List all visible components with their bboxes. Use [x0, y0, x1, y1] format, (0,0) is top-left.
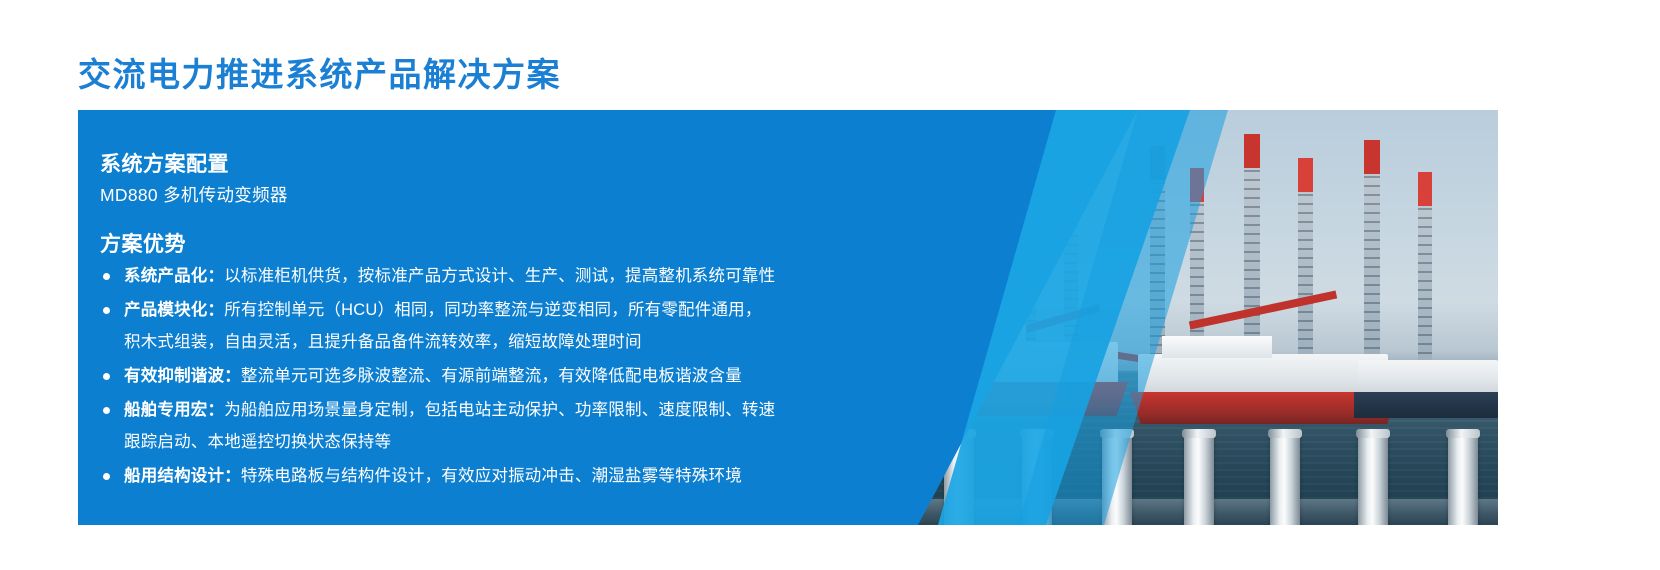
advantage-wrap-line: 跟踪启动、本地遥控切换状态保持等: [124, 426, 980, 458]
advantage-label: 系统产品化：: [124, 267, 224, 285]
advantage-label: 船用结构设计：: [124, 467, 241, 485]
solution-card: 系统方案配置 MD880 多机传动变频器 方案优势 系统产品化：以标准柜机供货，…: [78, 110, 1498, 525]
advantage-item: 系统产品化：以标准柜机供货，按标准产品方式设计、生产、测试，提高整机系统可靠性: [100, 260, 980, 292]
advantage-label: 产品模块化：: [124, 301, 224, 319]
advantage-label: 船舶专用宏：: [124, 401, 224, 419]
bullet-dot-icon: [103, 407, 110, 414]
section-subtitle: MD880 多机传动变频器: [100, 182, 288, 207]
crane-tower-cap: [1418, 172, 1432, 206]
advantage-item: 船舶专用宏：为船舶应用场景量身定制，包括电站主动保护、功率限制、速度限制、转速跟…: [100, 394, 980, 458]
pier-piling: [1270, 429, 1300, 525]
pier-piling: [1184, 429, 1214, 525]
vessel-deckhouse: [1162, 336, 1272, 358]
crane-tower-cap: [1298, 158, 1313, 192]
advantage-item: 船用结构设计：特殊电路板与结构件设计，有效应对振动冲击、潮湿盐雾等特殊环境: [100, 460, 980, 492]
vessel-superstructure: [1358, 360, 1498, 394]
section-title: 系统方案配置: [100, 148, 229, 178]
page-title: 交流电力推进系统产品解决方案: [78, 48, 561, 96]
advantage-first-line: 有效抑制谐波：整流单元可选多脉波整流、有源前端整流，有效降低配电板谐波含量: [124, 360, 980, 392]
advantage-wrap-line: 积木式组装，自由灵活，且提升备品备件流转效率，缩短故障处理时间: [124, 326, 980, 358]
advantages-list: 系统产品化：以标准柜机供货，按标准产品方式设计、生产、测试，提高整机系统可靠性产…: [100, 260, 980, 494]
crane-tower-cap: [1244, 134, 1260, 168]
advantages-title: 方案优势: [100, 228, 186, 258]
bullet-dot-icon: [103, 307, 110, 314]
bullet-dot-icon: [103, 473, 110, 480]
vessel-superstructure: [1138, 354, 1388, 394]
advantage-label: 有效抑制谐波：: [124, 367, 241, 385]
advantage-first-line: 系统产品化：以标准柜机供货，按标准产品方式设计、生产、测试，提高整机系统可靠性: [124, 260, 980, 292]
card-content: 系统方案配置 MD880 多机传动变频器 方案优势 系统产品化：以标准柜机供货，…: [100, 110, 1000, 525]
pier-piling: [1358, 429, 1388, 525]
advantage-first-line: 船用结构设计：特殊电路板与结构件设计，有效应对振动冲击、潮湿盐雾等特殊环境: [124, 460, 980, 492]
bullet-dot-icon: [103, 373, 110, 380]
crane-tower-cap: [1364, 140, 1380, 174]
advantage-item: 有效抑制谐波：整流单元可选多脉波整流、有源前端整流，有效降低配电板谐波含量: [100, 360, 980, 392]
advantage-first-line: 船舶专用宏：为船舶应用场景量身定制，包括电站主动保护、功率限制、速度限制、转速: [124, 394, 980, 426]
pier-piling: [1448, 429, 1478, 525]
advantage-item: 产品模块化：所有控制单元（HCU）相同，同功率整流与逆变相同，所有零配件通用，积…: [100, 294, 980, 358]
bullet-dot-icon: [103, 273, 110, 280]
advantage-first-line: 产品模块化：所有控制单元（HCU）相同，同功率整流与逆变相同，所有零配件通用，: [124, 294, 980, 326]
